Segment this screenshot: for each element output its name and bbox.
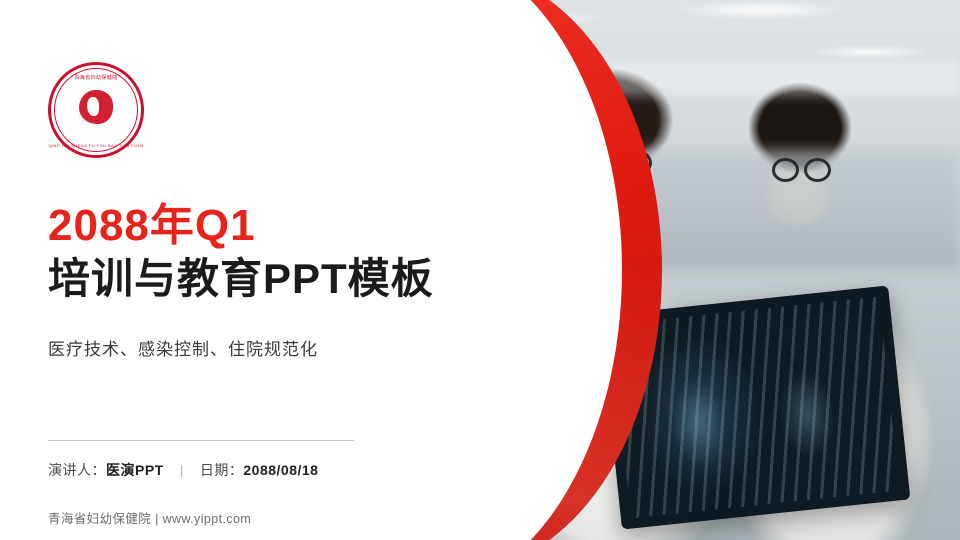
presentation-title-slide: 青海省妇幼保健院 QING HAI SHENG FU YOU BAO JIAN …	[0, 0, 960, 540]
photo-background	[400, 0, 960, 540]
date-label: 日期：	[200, 460, 244, 480]
date-value: 2088/08/18	[243, 462, 318, 478]
meta-separator: |	[180, 462, 184, 478]
speaker-label: 演讲人：	[48, 460, 106, 480]
photo-highlight-overlay	[400, 0, 960, 540]
page-title-primary: 2088年Q1	[48, 200, 468, 252]
cover-photo	[400, 0, 960, 540]
logo-top-text: 青海省妇幼保健院	[48, 74, 144, 81]
page-subtitle: 医疗技术、感染控制、住院规范化	[48, 335, 318, 360]
meta-divider	[48, 440, 354, 441]
page-title-secondary: 培训与教育PPT模板	[48, 254, 468, 304]
mother-and-child-icon	[79, 90, 113, 124]
meta-info: 演讲人： 医演PPT | 日期： 2088/08/18	[48, 460, 318, 480]
hospital-logo: 青海省妇幼保健院 QING HAI SHENG FU YOU BAO JIAN …	[48, 62, 144, 158]
speaker-value: 医演PPT	[106, 460, 164, 480]
footer-text: 青海省妇幼保健院 | www.yippt.com	[48, 508, 251, 527]
title-block: 2088年Q1 培训与教育PPT模板	[48, 200, 468, 304]
logo-bottom-text: QING HAI SHENG FU YOU BAO JIAN YUAN	[48, 143, 144, 148]
